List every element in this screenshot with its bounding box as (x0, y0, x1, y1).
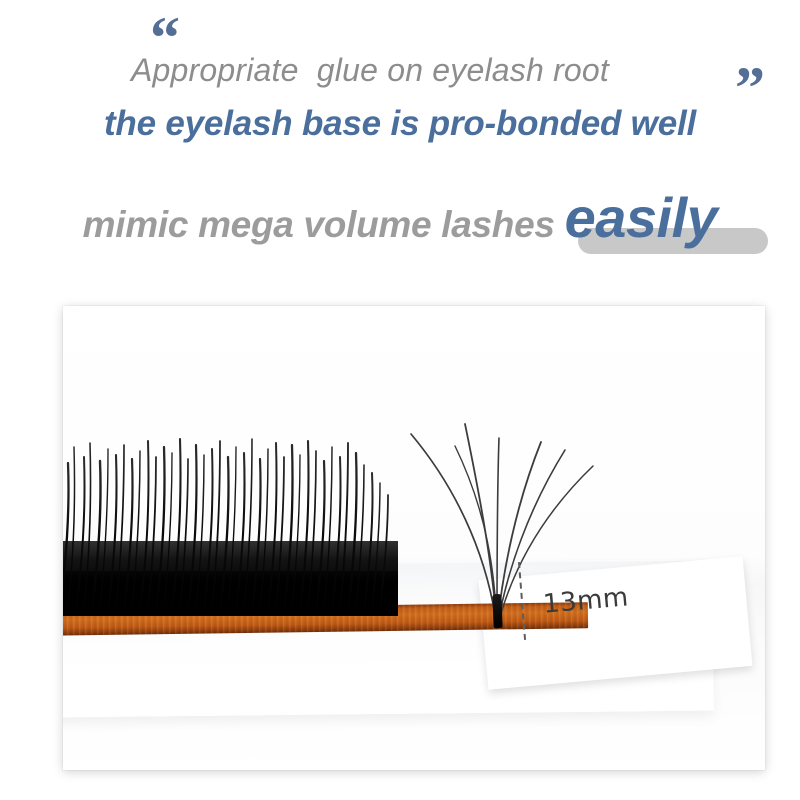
headline-line-3-prefix: mimic mega volume lashes (83, 204, 565, 245)
headline-block: “ Appropriate glue on eyelash root ” the… (0, 0, 800, 290)
headline-line-3-text: mimic mega volume lashes easily (0, 190, 800, 246)
headline-line-3: mimic mega volume lashes easily (0, 190, 800, 265)
product-photo-card: 13mm (63, 306, 765, 770)
headline-line-1: Appropriate glue on eyelash root (0, 52, 740, 89)
headline-line-3-accent: easily (565, 186, 718, 249)
lash-bank (63, 421, 398, 616)
headline-line-2: the eyelash base is pro-bonded well (0, 104, 800, 144)
product-photo-image: 13mm (63, 306, 765, 770)
lash-fan-bonded-base (492, 594, 502, 628)
